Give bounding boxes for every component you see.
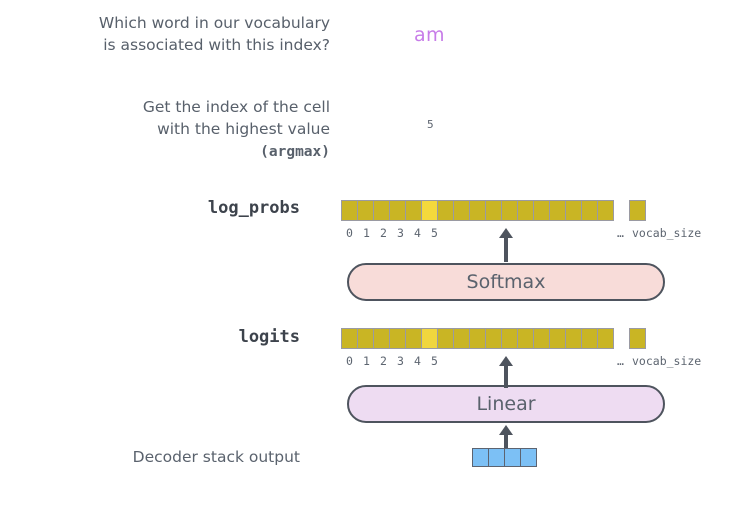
vector-cell [533,200,550,221]
decoder-output-cell [472,448,489,467]
label-decoder-stack-output: Decoder stack output [30,448,300,466]
decoder-output-cell [520,448,537,467]
arrow-shaft [504,435,508,448]
vector-cell [581,328,598,349]
arrow-head [499,228,513,238]
vector-cell [341,200,358,221]
vector-strip-logits [341,328,646,349]
vector-cell [389,328,406,349]
annotation-argmax-mono: (argmax) [260,144,330,160]
tick-ellipsis: … [613,354,628,368]
tick-row-logits: 012345…vocab_size [341,354,701,368]
vector-cell [421,328,438,349]
tick-label: 5 [426,354,443,368]
tick-label: 4 [409,354,426,368]
vector-cell [453,200,470,221]
vector-cell [405,200,422,221]
tick-label: 2 [375,226,392,240]
tick-row-log-probs: 012345…vocab_size [341,226,701,240]
vector-cell [549,328,566,349]
vector-cell [373,200,390,221]
vector-cell [373,328,390,349]
tick-label: 3 [392,354,409,368]
tick-label: 1 [358,226,375,240]
vector-cell [581,200,598,221]
tick-label-vocab-size: vocab_size [632,226,701,240]
vector-cell [357,200,374,221]
predicted-index-value: 5 [427,118,434,131]
arrow-head [499,425,513,435]
tick-label-vocab-size: vocab_size [632,354,701,368]
block-linear[interactable]: Linear [347,385,665,423]
vector-cell [533,328,550,349]
arrow-softmax-to-log-probs-icon [498,228,514,262]
tick-label: 0 [341,354,358,368]
tick-label: 3 [392,226,409,240]
arrow-shaft [504,238,508,262]
vector-cell [453,328,470,349]
predicted-word-value: am [414,24,445,46]
vector-cell [341,328,358,349]
vector-cell [565,328,582,349]
block-linear-label: Linear [476,393,535,415]
vector-cell [501,328,518,349]
block-softmax[interactable]: Softmax [347,263,665,301]
vector-cell [389,200,406,221]
tick-label: 5 [426,226,443,240]
annotation-argmax: Get the index of the cell with the highe… [10,96,330,163]
vector-cell [437,200,454,221]
vector-cell [437,328,454,349]
tick-ellipsis: … [613,226,628,240]
arrow-linear-to-logits-icon [498,356,514,388]
vector-gap [614,328,629,349]
arrow-head [499,356,513,366]
block-softmax-label: Softmax [467,271,546,293]
vector-strip-decoder-output [472,448,537,467]
decoder-output-cell [488,448,505,467]
vector-cell [501,200,518,221]
annotation-argmax-text: Get the index of the cell with the highe… [143,98,330,138]
vector-cell [565,200,582,221]
vector-cell [549,200,566,221]
row-label-log-probs: log_probs [40,198,300,218]
vector-cell [421,200,438,221]
arrow-decoder-to-linear-icon [498,425,514,448]
vector-cell [485,200,502,221]
vector-cell [597,200,614,221]
vector-cell-last [629,200,646,221]
tick-label: 2 [375,354,392,368]
tick-label: 4 [409,226,426,240]
vector-cell [485,328,502,349]
row-label-logits: logits [40,327,300,347]
vector-cell [357,328,374,349]
vector-cell [517,328,534,349]
tick-label: 1 [358,354,375,368]
vector-cell [597,328,614,349]
tick-label: 0 [341,226,358,240]
arrow-shaft [504,366,508,388]
vector-gap [614,200,629,221]
decoder-output-cell [504,448,521,467]
vector-cell [469,328,486,349]
annotation-question: Which word in our vocabulary is associat… [10,12,330,56]
vector-strip-log-probs [341,200,646,221]
vector-cell-last [629,328,646,349]
vector-cell [405,328,422,349]
vector-cell [469,200,486,221]
vector-cell [517,200,534,221]
